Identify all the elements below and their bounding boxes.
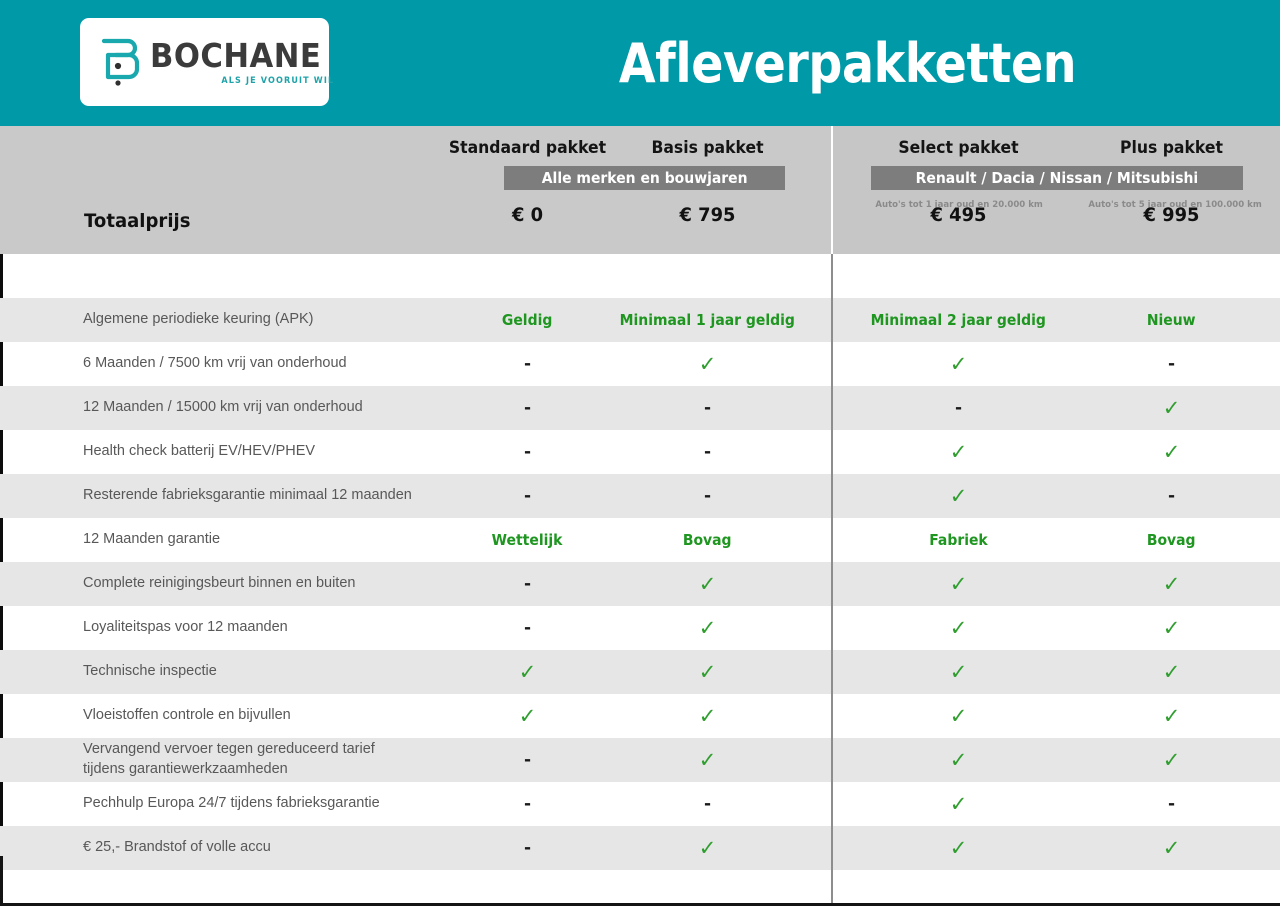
check-icon: ✓ <box>699 838 717 859</box>
table-cell: ✓ <box>871 738 1046 782</box>
table-row: Health check batterij EV/HEV/PHEV--✓✓ <box>0 430 1280 474</box>
check-icon: ✓ <box>950 618 968 639</box>
brand-name: BOCHANE <box>150 39 321 72</box>
table-cell: ✓ <box>871 606 1046 650</box>
group-bar-all-brands-label: Alle merken en bouwjaren <box>542 169 748 187</box>
table-cell: - <box>440 562 615 606</box>
dash-icon: - <box>955 403 962 413</box>
table-cell: ✓ <box>1084 738 1259 782</box>
dash-icon: - <box>1168 799 1175 809</box>
header-group-divider <box>831 126 833 254</box>
check-icon: ✓ <box>699 662 717 683</box>
table-row: Algemene periodieke keuring (APK)GeldigM… <box>0 298 1280 342</box>
check-icon: ✓ <box>950 662 968 683</box>
cell-value-text: Wettelijk <box>492 531 563 549</box>
column-title-plus: Plus pakket <box>1091 138 1252 158</box>
dash-icon: - <box>524 403 531 413</box>
check-icon: ✓ <box>699 354 717 375</box>
table-cell: - <box>620 782 795 826</box>
check-icon: ✓ <box>699 618 717 639</box>
table-cell: ✓ <box>871 562 1046 606</box>
check-icon: ✓ <box>1163 750 1181 771</box>
cell-value-text: Bovag <box>1147 531 1196 549</box>
dash-icon: - <box>704 799 711 809</box>
dash-icon: - <box>704 447 711 457</box>
cell-value-text: Fabriek <box>929 531 988 549</box>
table-cell: ✓ <box>620 694 795 738</box>
table-header: Totaalprijs Standaard pakket Basis pakke… <box>0 126 1280 254</box>
row-label: Complete reinigingsbeurt binnen en buite… <box>83 562 355 606</box>
check-icon: ✓ <box>950 574 968 595</box>
row-label: Pechhulp Europa 24/7 tijdens fabrieksgar… <box>83 782 380 826</box>
table-cell: ✓ <box>1084 826 1259 870</box>
row-label: € 25,- Brandstof of volle accu <box>83 826 271 870</box>
table-cell: - <box>871 386 1046 430</box>
table-cell: ✓ <box>620 650 795 694</box>
check-icon: ✓ <box>950 750 968 771</box>
table-cell: - <box>440 430 615 474</box>
table-cell: - <box>1084 342 1259 386</box>
price-plus: € 995 <box>1089 204 1254 226</box>
group-bar-renault-group: Renault / Dacia / Nissan / Mitsubishi <box>871 166 1243 190</box>
table-cell: ✓ <box>871 694 1046 738</box>
dash-icon: - <box>1168 491 1175 501</box>
table-cell: - <box>440 342 615 386</box>
check-icon: ✓ <box>1163 574 1181 595</box>
table-cell: ✓ <box>620 738 795 782</box>
table-cell: ✓ <box>871 650 1046 694</box>
check-icon: ✓ <box>1163 442 1181 463</box>
table-row: Complete reinigingsbeurt binnen en buite… <box>0 562 1280 606</box>
table-row: Vervangend vervoer tegen gereduceerd tar… <box>0 738 1280 782</box>
dash-icon: - <box>524 359 531 369</box>
table-cell: ✓ <box>1084 606 1259 650</box>
table-cell: - <box>620 386 795 430</box>
check-icon: ✓ <box>950 706 968 727</box>
table-cell: - <box>440 826 615 870</box>
page-banner: BOCHANE ALS JE VOORUIT WIL Afleverpakket… <box>0 0 1280 126</box>
check-icon: ✓ <box>1163 838 1181 859</box>
table-cell: Bovag <box>620 518 795 562</box>
check-icon: ✓ <box>950 354 968 375</box>
table-row: € 25,- Brandstof of volle accu-✓✓✓ <box>0 826 1280 870</box>
check-icon: ✓ <box>699 574 717 595</box>
table-cell: Wettelijk <box>440 518 615 562</box>
check-icon: ✓ <box>950 794 968 815</box>
dash-icon: - <box>524 799 531 809</box>
table-cell: Fabriek <box>871 518 1046 562</box>
table-row: 12 Maanden / 15000 km vrij van onderhoud… <box>0 386 1280 430</box>
check-icon: ✓ <box>950 442 968 463</box>
dash-icon: - <box>524 491 531 501</box>
cell-value-text: Geldig <box>502 311 552 329</box>
dash-icon: - <box>524 843 531 853</box>
table-cell: Nieuw <box>1084 298 1259 342</box>
check-icon: ✓ <box>1163 706 1181 727</box>
cell-value-text: Bovag <box>683 531 732 549</box>
table-cell: ✓ <box>1084 386 1259 430</box>
table-cell: ✓ <box>620 826 795 870</box>
dash-icon: - <box>524 447 531 457</box>
table-cell: - <box>620 430 795 474</box>
table-row: Loyaliteitspas voor 12 maanden-✓✓✓ <box>0 606 1280 650</box>
check-icon: ✓ <box>1163 618 1181 639</box>
check-icon: ✓ <box>1163 398 1181 419</box>
dash-icon: - <box>704 491 711 501</box>
table-spacer-row <box>0 870 1280 906</box>
row-label: 12 Maanden / 15000 km vrij van onderhoud <box>83 386 363 430</box>
table-cell: Minimaal 2 jaar geldig <box>871 298 1046 342</box>
brand-tagline: ALS JE VOORUIT WIL <box>159 77 334 86</box>
table-cell: - <box>440 782 615 826</box>
price-select: € 495 <box>876 204 1041 226</box>
table-cell: ✓ <box>1084 650 1259 694</box>
body-group-divider <box>831 254 833 906</box>
table-row: 6 Maanden / 7500 km vrij van onderhoud-✓… <box>0 342 1280 386</box>
row-label: Vervangend vervoer tegen gereduceerd tar… <box>83 738 375 782</box>
row-label: Loyaliteitspas voor 12 maanden <box>83 606 288 650</box>
table-cell: - <box>440 386 615 430</box>
table-cell: - <box>620 474 795 518</box>
table-cell: Geldig <box>440 298 615 342</box>
page-title: Afleverpakketten <box>595 0 1101 126</box>
price-standaard: € 0 <box>445 204 610 226</box>
check-icon: ✓ <box>519 706 537 727</box>
table-row: 12 Maanden garantieWettelijkBovagFabriek… <box>0 518 1280 562</box>
comparison-table-body: Algemene periodieke keuring (APK)GeldigM… <box>0 254 1280 906</box>
table-row: Resterende fabrieksgarantie minimaal 12 … <box>0 474 1280 518</box>
table-cell: Bovag <box>1084 518 1259 562</box>
table-cell: - <box>440 738 615 782</box>
column-title-select: Select pakket <box>878 138 1039 158</box>
table-spacer-row <box>0 254 1280 298</box>
column-title-standaard: Standaard pakket <box>447 138 608 158</box>
table-cell: - <box>1084 474 1259 518</box>
total-price-label: Totaalprijs <box>84 210 190 232</box>
row-label: 6 Maanden / 7500 km vrij van onderhoud <box>83 342 347 386</box>
table-row: Pechhulp Europa 24/7 tijdens fabrieksgar… <box>0 782 1280 826</box>
dash-icon: - <box>524 623 531 633</box>
table-cell: ✓ <box>871 826 1046 870</box>
price-basis: € 795 <box>625 204 790 226</box>
table-row: Vloeistoffen controle en bijvullen✓✓✓✓ <box>0 694 1280 738</box>
row-label: Vloeistoffen controle en bijvullen <box>83 694 291 738</box>
check-icon: ✓ <box>519 662 537 683</box>
dash-icon: - <box>524 579 531 589</box>
table-cell: ✓ <box>440 694 615 738</box>
dash-icon: - <box>1168 359 1175 369</box>
table-cell: ✓ <box>620 562 795 606</box>
brand-logo: BOCHANE ALS JE VOORUIT WIL <box>80 18 329 106</box>
table-cell: ✓ <box>871 782 1046 826</box>
row-label: 12 Maanden garantie <box>83 518 220 562</box>
dash-icon: - <box>704 403 711 413</box>
table-cell: ✓ <box>1084 562 1259 606</box>
check-icon: ✓ <box>1163 662 1181 683</box>
table-left-rule <box>0 856 3 906</box>
table-cell: ✓ <box>871 430 1046 474</box>
row-label: Resterende fabrieksgarantie minimaal 12 … <box>83 474 412 518</box>
cell-value-text: Minimaal 1 jaar geldig <box>620 311 795 329</box>
table-cell: ✓ <box>871 474 1046 518</box>
row-label: Technische inspectie <box>83 650 217 694</box>
group-bar-all-brands: Alle merken en bouwjaren <box>504 166 785 190</box>
table-cell: - <box>440 474 615 518</box>
check-icon: ✓ <box>699 706 717 727</box>
afleverpakketten-page: BOCHANE ALS JE VOORUIT WIL Afleverpakket… <box>0 0 1280 906</box>
table-cell: ✓ <box>1084 430 1259 474</box>
row-label: Algemene periodieke keuring (APK) <box>83 298 314 342</box>
check-icon: ✓ <box>699 750 717 771</box>
table-cell: ✓ <box>1084 694 1259 738</box>
check-icon: ✓ <box>950 838 968 859</box>
table-cell: - <box>440 606 615 650</box>
check-icon: ✓ <box>950 486 968 507</box>
table-row: Technische inspectie✓✓✓✓ <box>0 650 1280 694</box>
cell-value-text: Minimaal 2 jaar geldig <box>871 311 1046 329</box>
table-cell: Minimaal 1 jaar geldig <box>620 298 795 342</box>
column-title-basis: Basis pakket <box>627 138 788 158</box>
group-bar-renault-group-label: Renault / Dacia / Nissan / Mitsubishi <box>916 169 1199 187</box>
row-label: Health check batterij EV/HEV/PHEV <box>83 430 315 474</box>
table-cell: ✓ <box>620 342 795 386</box>
dash-icon: - <box>524 755 531 765</box>
table-cell: - <box>1084 782 1259 826</box>
table-cell: ✓ <box>440 650 615 694</box>
table-cell: ✓ <box>620 606 795 650</box>
cell-value-text: Nieuw <box>1147 311 1196 329</box>
table-cell: ✓ <box>871 342 1046 386</box>
bochane-logomark-icon <box>98 35 144 89</box>
